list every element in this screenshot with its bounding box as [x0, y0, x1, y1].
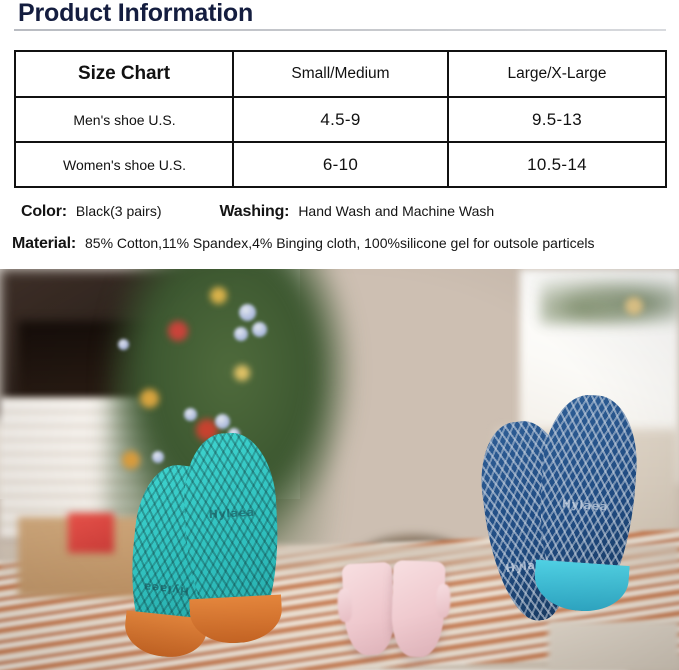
row-label-mens-shoe: Men's shoe U.S.: [15, 97, 233, 142]
column-header-large-xlarge: Large/X-Large: [448, 51, 666, 97]
material-value: 85% Cotton,11% Spandex,4% Binging cloth,…: [85, 235, 595, 251]
title-divider: [14, 29, 666, 31]
product-information-panel: Product Information Size Chart Small/Med…: [0, 0, 679, 269]
sock-brand-label: Hylaea: [208, 506, 255, 521]
tree-ornament: [168, 321, 188, 341]
bokeh-light: [118, 339, 129, 350]
bokeh-light: [239, 304, 256, 321]
mens-large-xlarge-value: 9.5-13: [448, 97, 666, 142]
material-label: Material:: [12, 235, 76, 252]
bokeh-light: [184, 408, 197, 421]
window-light-bokeh: [625, 297, 643, 315]
product-lifestyle-photo: Hylaea Hylaea Hylaea Hylaea: [0, 269, 679, 670]
sock-toe-grip: [533, 560, 630, 614]
size-chart-table: Size Chart Small/Medium Large/X-Large Me…: [14, 50, 667, 188]
sock-toe-grip: [189, 594, 283, 645]
washing-value: Hand Wash and Machine Wash: [298, 203, 494, 219]
table-row: Women's shoe U.S. 6-10 10.5-14: [15, 142, 666, 187]
bokeh-light: [152, 451, 164, 463]
tree-ornament: [140, 389, 159, 408]
window-foliage: [540, 269, 679, 325]
bokeh-light: [252, 322, 267, 337]
spec-row-color-washing: Color:Black(3 pairs)Washing:Hand Wash an…: [21, 203, 494, 221]
floor-right: [548, 621, 679, 670]
table-header-row: Size Chart Small/Medium Large/X-Large: [15, 51, 666, 97]
tree-ornament: [122, 451, 140, 469]
washing-label: Washing:: [220, 203, 290, 220]
mens-small-medium-value: 4.5-9: [233, 97, 448, 142]
color-label: Color:: [21, 203, 67, 220]
tree-ornament: [234, 365, 250, 381]
grip-sock-blue-right: Hylaea: [533, 392, 642, 614]
bokeh-light: [215, 414, 230, 429]
womens-large-xlarge-value: 10.5-14: [448, 142, 666, 187]
womens-small-medium-value: 6-10: [233, 142, 448, 187]
page-title: Product Information: [18, 0, 253, 28]
spec-row-material: Material:85% Cotton,11% Spandex,4% Bingi…: [12, 235, 595, 253]
column-header-size-chart: Size Chart: [15, 51, 233, 97]
row-label-womens-shoe: Women's shoe U.S.: [15, 142, 233, 187]
table-row: Men's shoe U.S. 4.5-9 9.5-13: [15, 97, 666, 142]
gift-ribbon: [68, 513, 114, 553]
tree-ornament: [210, 287, 227, 304]
bootie-strap: [436, 584, 451, 618]
color-value: Black(3 pairs): [76, 203, 162, 219]
grip-sock-teal-right: Hylaea: [181, 431, 284, 646]
column-header-small-medium: Small/Medium: [233, 51, 448, 97]
bokeh-light: [234, 327, 248, 341]
bootie-strap: [337, 588, 353, 623]
